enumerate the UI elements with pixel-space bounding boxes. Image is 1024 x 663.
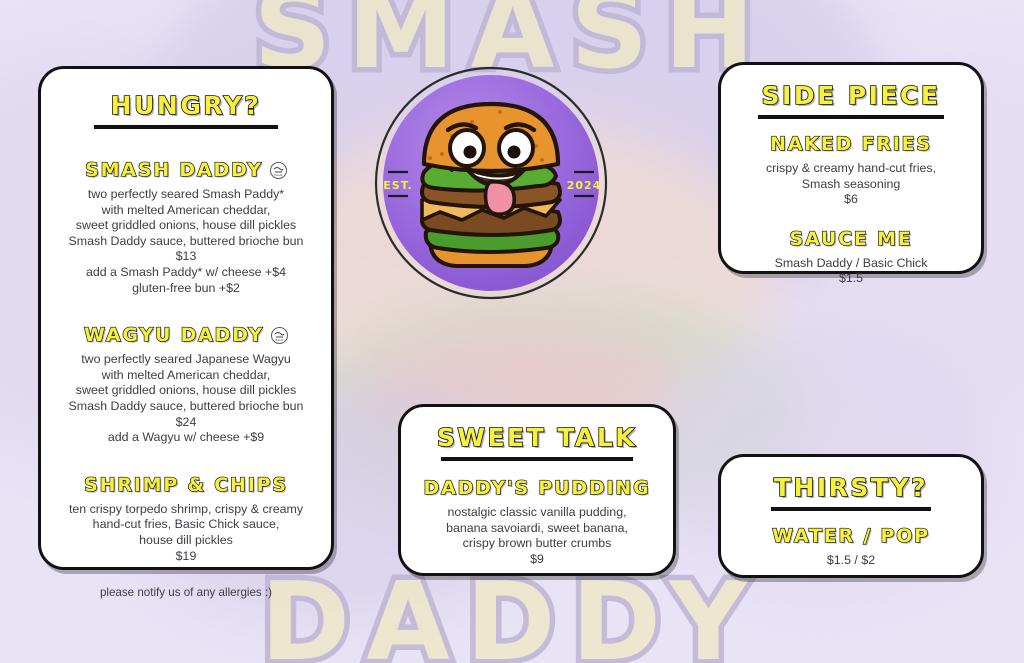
menu-item: DADDY'S PUDDING nostalgic classic vanill… bbox=[401, 477, 673, 567]
description-line: $1.5 bbox=[721, 271, 981, 287]
description-line: house dill pickles bbox=[41, 533, 331, 549]
description-line: banana savoiardi, sweet banana, bbox=[401, 521, 673, 537]
item-description: nostalgic classic vanilla pudding,banana… bbox=[401, 505, 673, 567]
description-line: Smash Daddy / Basic Chick bbox=[721, 256, 981, 272]
description-line: Smash Daddy sauce, buttered brioche bun bbox=[41, 399, 331, 415]
title-underline bbox=[94, 125, 278, 129]
description-line: $9 bbox=[401, 552, 673, 568]
card-title: SIDE PIECE bbox=[735, 81, 967, 110]
svg-text:EST.: EST. bbox=[383, 179, 412, 192]
menu-item: SHRIMP & CHIPS ten crispy torpedo shrimp… bbox=[41, 474, 331, 564]
description-line: Smash seasoning bbox=[721, 177, 981, 193]
card-title: HUNGRY? bbox=[55, 91, 317, 120]
description-line: ten crispy torpedo shrimp, crispy & crea… bbox=[41, 502, 331, 518]
svg-text:2024: 2024 bbox=[567, 179, 602, 192]
description-line: with melted American cheddar, bbox=[41, 368, 331, 384]
menu-card-hungry: HUNGRY? SMASH DADDY HALAL two perfectly … bbox=[38, 66, 334, 570]
allergy-notice: please notify us of any allergies :) bbox=[38, 586, 334, 599]
description-line: hand-cut fries, Basic Chick sauce, bbox=[41, 517, 331, 533]
menu-page: SMASH DADDY SMASH DADDY bbox=[0, 0, 1024, 663]
title-underline bbox=[758, 115, 944, 119]
halal-mark-icon: HALAL bbox=[270, 162, 287, 179]
description-line: nostalgic classic vanilla pudding, bbox=[401, 505, 673, 521]
description-line: add a Smash Paddy* w/ cheese +$4 bbox=[41, 265, 331, 281]
title-underline bbox=[771, 507, 931, 511]
item-description: ten crispy torpedo shrimp, crispy & crea… bbox=[41, 502, 331, 564]
description-line: sweet griddled onions, house dill pickle… bbox=[41, 383, 331, 399]
description-line: two perfectly seared Japanese Wagyu bbox=[41, 352, 331, 368]
item-name: SMASH DADDY bbox=[85, 159, 263, 181]
item-description: two perfectly seared Japanese Wagyuwith … bbox=[41, 352, 331, 446]
description-line: crispy brown butter crumbs bbox=[401, 536, 673, 552]
description-line: $1.5 / $2 bbox=[721, 553, 981, 569]
card-title: SWEET TALK bbox=[415, 423, 659, 452]
menu-card-thirsty: THIRSTY? WATER / POP $1.5 / $2 bbox=[718, 454, 984, 578]
description-line: $13 bbox=[41, 249, 331, 265]
card-title: THIRSTY? bbox=[735, 473, 967, 502]
item-name: WAGYU DADDY bbox=[84, 324, 264, 346]
description-line: gluten-free bun +$2 bbox=[41, 281, 331, 297]
menu-card-sweet-talk: SWEET TALK DADDY'S PUDDING nostalgic cla… bbox=[398, 404, 676, 576]
item-description: $1.5 / $2 bbox=[721, 553, 981, 569]
item-name: SAUCE ME bbox=[789, 228, 912, 250]
description-line: $24 bbox=[41, 415, 331, 431]
description-line: sweet griddled onions, house dill pickle… bbox=[41, 218, 331, 234]
svg-text:HALAL: HALAL bbox=[275, 338, 284, 342]
halal-mark-icon: HALAL bbox=[271, 327, 288, 344]
menu-item: SAUCE ME Smash Daddy / Basic Chick$1.5 bbox=[721, 228, 981, 287]
description-line: crispy & creamy hand-cut fries, bbox=[721, 161, 981, 177]
description-line: add a Wagyu w/ cheese +$9 bbox=[41, 430, 331, 446]
item-description: crispy & creamy hand-cut fries,Smash sea… bbox=[721, 161, 981, 208]
menu-item: SMASH DADDY HALAL two perfectly seared S… bbox=[41, 159, 331, 296]
item-name: SHRIMP & CHIPS bbox=[84, 474, 288, 496]
item-name: WATER / POP bbox=[772, 525, 930, 547]
menu-item: NAKED FRIES crispy & creamy hand-cut fri… bbox=[721, 133, 981, 208]
item-name: DADDY'S PUDDING bbox=[424, 477, 651, 499]
description-line: Smash Daddy sauce, buttered brioche bun bbox=[41, 234, 331, 250]
description-line: two perfectly seared Smash Paddy* bbox=[41, 187, 331, 203]
title-underline bbox=[441, 457, 633, 461]
item-name: NAKED FRIES bbox=[770, 133, 932, 155]
description-line: with melted American cheddar, bbox=[41, 203, 331, 219]
menu-card-side-piece: SIDE PIECE NAKED FRIES crispy & creamy h… bbox=[718, 62, 984, 274]
item-description: Smash Daddy / Basic Chick$1.5 bbox=[721, 256, 981, 287]
menu-item: WAGYU DADDY HALAL two perfectly seared J… bbox=[41, 324, 331, 446]
smash-daddy-logo: SMASH DADDY EST. 2024 bbox=[372, 64, 610, 302]
svg-text:HALAL: HALAL bbox=[274, 173, 283, 177]
description-line: $6 bbox=[721, 192, 981, 208]
description-line: $19 bbox=[41, 549, 331, 565]
menu-item: WATER / POP $1.5 / $2 bbox=[721, 525, 981, 569]
item-description: two perfectly seared Smash Paddy*with me… bbox=[41, 187, 331, 296]
